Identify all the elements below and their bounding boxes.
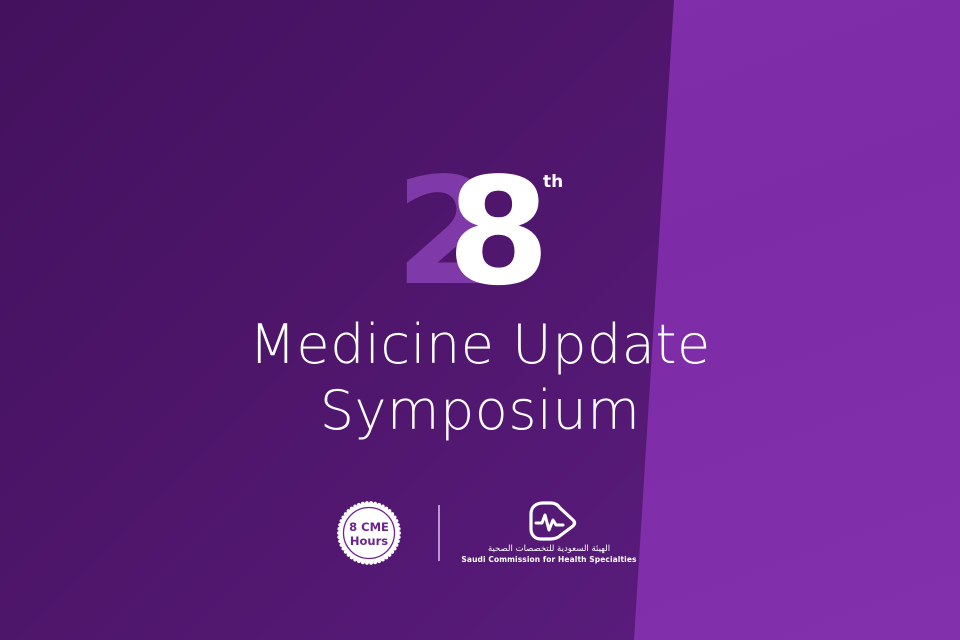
edition-number-inner: 2 8 th (395, 158, 565, 298)
edition-digit-foreground: 8 (447, 158, 544, 306)
footer-divider (438, 505, 440, 561)
cme-badge-line-1: 8 CME (349, 520, 389, 534)
cme-hours-badge: 8 CME Hours (336, 500, 402, 566)
partner-name-arabic: الهيئة السعودية للتخصصات الصحية (488, 544, 610, 555)
partner-logo: الهيئة السعودية للتخصصات الصحية Saudi Co… (474, 501, 624, 565)
partner-name-english: Saudi Commission for Health Specialties (461, 555, 636, 565)
event-poster: 2 8 th Medicine Update Symposium 8 CME (0, 0, 960, 640)
poster-content: 2 8 th Medicine Update Symposium 8 CME (0, 0, 960, 640)
edition-ordinal-suffix: th (543, 172, 563, 192)
title-line-2: Symposium (0, 378, 960, 444)
title-line-1: Medicine Update (0, 312, 960, 378)
footer-logo-row: 8 CME Hours الهيئة السعودية للتخصصات الص… (0, 488, 960, 578)
cme-badge-line-2: Hours (350, 534, 388, 548)
page-title: Medicine Update Symposium (0, 312, 960, 444)
cme-badge-icon: 8 CME Hours (336, 500, 402, 566)
scfhs-heartbeat-icon (521, 501, 577, 541)
edition-number-block: 2 8 th (0, 158, 960, 298)
